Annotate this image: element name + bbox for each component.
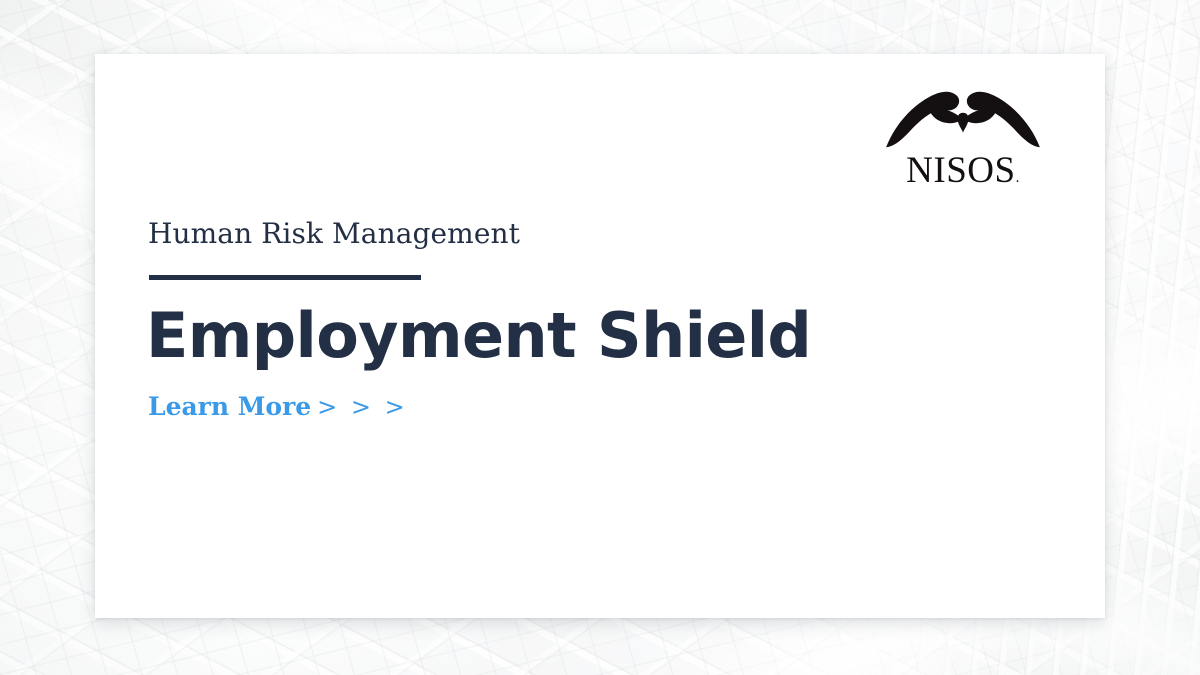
slide-stage: NISOS. Human Risk Management Employment … bbox=[0, 0, 1200, 675]
slide-content: Human Risk Management Employment Shield … bbox=[148, 219, 1028, 422]
content-card: NISOS. Human Risk Management Employment … bbox=[95, 54, 1105, 618]
brand-wordmark-text: NISOS bbox=[906, 150, 1015, 191]
eyebrow-label: Human Risk Management bbox=[148, 219, 1028, 250]
nisos-bird-icon bbox=[883, 84, 1043, 156]
chevron-right-icon: > > > bbox=[317, 393, 408, 421]
learn-more-link[interactable]: Learn More> > > bbox=[148, 392, 408, 422]
brand-wordmark-mark: . bbox=[1016, 170, 1020, 186]
learn-more-label: Learn More bbox=[148, 392, 311, 421]
brand-wordmark: NISOS. bbox=[883, 152, 1043, 189]
page-title: Employment Shield bbox=[146, 303, 1028, 368]
accent-rule bbox=[149, 275, 421, 280]
brand-logo: NISOS. bbox=[883, 84, 1043, 216]
